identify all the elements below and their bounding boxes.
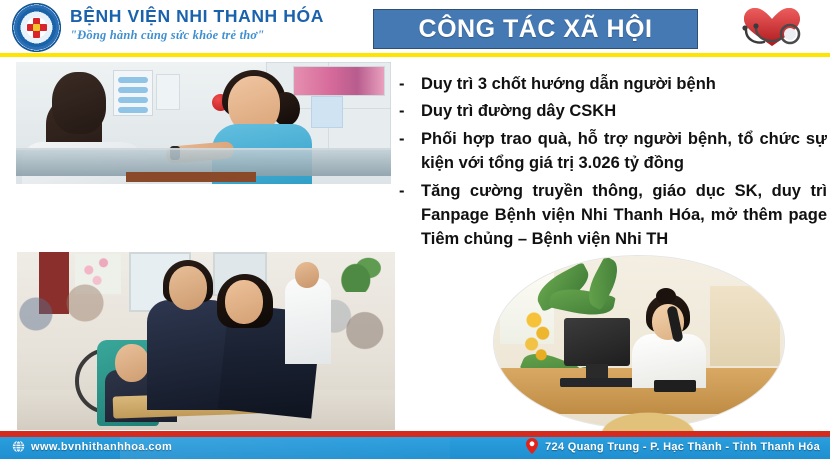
mother-head <box>169 266 207 310</box>
doctor-head <box>295 262 319 288</box>
slide-title-banner: CÔNG TÁC XÃ HỘI <box>373 9 698 49</box>
bullet-marker: - <box>399 72 421 96</box>
hotline-staff-bun <box>656 288 676 304</box>
hotline-keyboard <box>560 378 640 387</box>
doctor-coat <box>285 278 331 364</box>
bullet-item: - Tăng cường truyền thông, giáo dục SK, … <box>399 179 827 252</box>
globe-icon <box>12 440 25 453</box>
bullet-marker: - <box>399 127 421 151</box>
bullet-text: Duy trì 3 chốt hướng dẫn người bệnh <box>421 72 827 96</box>
bullet-item: - Duy trì 3 chốt hướng dẫn người bệnh <box>399 72 827 96</box>
telephone-base <box>654 380 696 392</box>
child-head <box>115 344 149 382</box>
slide-header: BỆNH VIỆN NHI THANH HÓA "Đồng hành cùng … <box>0 0 830 55</box>
bullet-text: Phối hợp trao quà, hỗ trợ người bệnh, tổ… <box>421 127 827 176</box>
bullet-text: Duy trì đường dây CSKH <box>421 99 827 123</box>
reception-counter-wood <box>126 172 256 182</box>
hotline-monitor-stand <box>586 364 608 378</box>
header-divider <box>0 53 830 57</box>
bullet-marker: - <box>399 179 421 203</box>
bullet-text: Tăng cường truyền thông, giáo dục SK, du… <box>421 179 827 252</box>
footer-base <box>0 459 830 467</box>
reception-poster-c <box>293 66 385 96</box>
footer-address-text: 724 Quang Trung - P. Hạc Thành - Tỉnh Th… <box>545 441 820 453</box>
photo-reception <box>16 62 391 184</box>
hotline-flowers <box>518 308 558 368</box>
footer-website-text: www.bvnhithanhhoa.com <box>31 441 172 453</box>
slide-root: BỆNH VIỆN NHI THANH HÓA "Đồng hành cùng … <box>0 0 830 467</box>
bullet-item: - Phối hợp trao quà, hỗ trợ người bệnh, … <box>399 127 827 176</box>
hotline-wall-panel <box>710 286 780 366</box>
organization-name: BỆNH VIỆN NHI THANH HÓA <box>70 6 360 26</box>
reception-poster-d <box>311 96 343 128</box>
seal-center-emblem <box>33 24 40 31</box>
photo-charity <box>17 252 395 430</box>
bullet-marker: - <box>399 99 421 123</box>
footer-website[interactable]: www.bvnhithanhhoa.com <box>12 440 172 453</box>
organization-slogan: "Đồng hành cùng sức khỏe trẻ thơ" <box>70 28 360 43</box>
bullet-item: - Duy trì đường dây CSKH <box>399 99 827 123</box>
slide-footer: www.bvnhithanhhoa.com 724 Quang Trung - … <box>0 431 830 467</box>
hospital-seal-icon <box>12 3 61 52</box>
patient-head <box>52 72 106 134</box>
organization-block: BỆNH VIỆN NHI THANH HÓA "Đồng hành cùng … <box>70 6 360 43</box>
slide-title: CÔNG TÁC XÃ HỘI <box>419 17 653 42</box>
bullet-list: - Duy trì 3 chốt hướng dẫn người bệnh - … <box>399 72 827 255</box>
footer-address: 724 Quang Trung - P. Hạc Thành - Tỉnh Th… <box>526 440 820 454</box>
hotline-monitor <box>564 318 630 366</box>
reception-poster-b <box>156 74 180 110</box>
location-pin-icon <box>526 438 538 454</box>
reception-poster-a <box>113 70 153 116</box>
visitor-head <box>225 280 263 324</box>
photo-hotline <box>494 256 784 428</box>
heart-stethoscope-icon <box>736 6 808 48</box>
